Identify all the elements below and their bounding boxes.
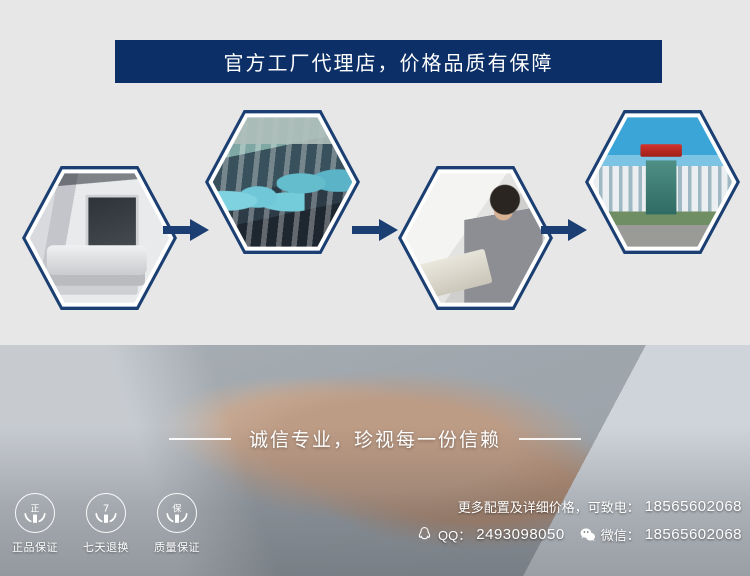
- process-flow: [0, 95, 750, 325]
- badge-label: 质量保证: [154, 539, 200, 555]
- page-title: 官方工厂代理店，价格品质有保障: [224, 47, 554, 76]
- badge-label: 正品保证: [12, 539, 58, 555]
- flow-step-factory: [205, 107, 360, 257]
- svg-text:保: 保: [172, 503, 181, 515]
- handshake-section: 诚信专业，珍视每一份信赖 正 正品保证 7: [0, 345, 750, 576]
- wechat-icon: [579, 526, 596, 543]
- phone-line: 更多配置及详细价格，可致电： 18565602068: [416, 497, 742, 516]
- phone-number: 18565602068: [645, 498, 742, 515]
- hands-holding-icon: 保: [157, 493, 197, 533]
- arrow-right-icon: [541, 217, 587, 243]
- arrow-right-icon: [163, 217, 209, 243]
- svg-text:7: 7: [103, 504, 109, 515]
- badge-label: 七天退换: [83, 539, 129, 555]
- flow-step-equipment: [22, 163, 177, 313]
- qq-label: QQ：: [438, 525, 471, 544]
- qq-penguin-icon: [416, 526, 433, 543]
- tagline-text: 诚信专业，珍视每一份信赖: [249, 425, 501, 452]
- arrow-right-icon: [352, 217, 398, 243]
- qq-number: 2493098050: [476, 526, 564, 543]
- flow-step-building: [585, 107, 740, 257]
- rule-right: [519, 438, 581, 440]
- guarantee-badges: 正 正品保证 7 七天退换: [8, 493, 204, 555]
- phone-prefix: 更多配置及详细价格，可致电：: [458, 497, 640, 516]
- top-section: 官方工厂代理店，价格品质有保障: [0, 0, 750, 345]
- im-line: QQ： 2493098050 微信： 18565602068: [416, 525, 742, 544]
- rule-left: [169, 438, 231, 440]
- wechat-number: 18565602068: [645, 526, 742, 543]
- wechat-label: 微信：: [601, 525, 640, 544]
- hands-holding-icon: 正: [15, 493, 55, 533]
- hands-holding-icon: 7: [86, 493, 126, 533]
- badge-seven-day-return: 7 七天退换: [79, 493, 133, 555]
- badge-authentic: 正 正品保证: [8, 493, 62, 555]
- tagline-row: 诚信专业，珍视每一份信赖: [0, 425, 750, 452]
- headline-banner: 官方工厂代理店，价格品质有保障: [115, 40, 662, 83]
- contact-block: 更多配置及详细价格，可致电： 18565602068 QQ： 249309805…: [416, 497, 742, 544]
- badge-quality: 保 质量保证: [150, 493, 204, 555]
- svg-text:正: 正: [30, 505, 39, 515]
- promo-page: 官方工厂代理店，价格品质有保障: [0, 0, 750, 576]
- flow-step-service: [398, 163, 553, 313]
